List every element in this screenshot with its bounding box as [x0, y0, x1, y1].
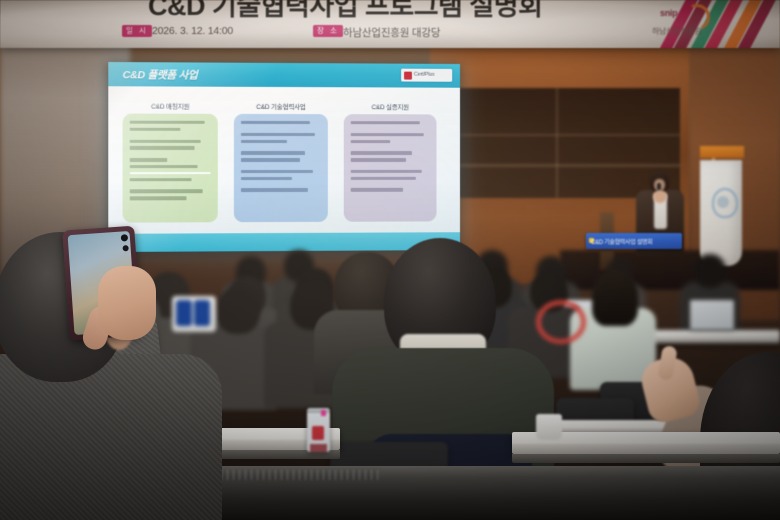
hand-holding-phone — [98, 266, 156, 340]
stage-sign-text: C&D 기술협력사업 설명회 — [591, 237, 652, 246]
desk-edge-front-right — [512, 454, 780, 463]
screen-glare — [108, 62, 460, 252]
laptop-far-right-2 — [690, 300, 734, 330]
stage-floor — [560, 250, 780, 290]
projection-screen: C&D 플랫폼 사업 Cert/Plus C&D 매칭지원 — [108, 62, 460, 252]
beverage-can-right[interactable] — [307, 408, 330, 452]
stage-sign: C&D 기술협력사업 설명회 — [586, 233, 682, 249]
red-circle-sign — [536, 300, 586, 344]
dark-acoustic-panel — [448, 88, 680, 198]
event-banner: C&D 기술협력사업 프로그램 설명회 일 시 2026. 3. 12. 14:… — [0, 0, 780, 48]
foreground-photographer — [0, 232, 232, 520]
tweed-jacket — [0, 354, 222, 520]
banner-lighting-vignette — [0, 0, 780, 48]
paper-cup[interactable] — [536, 414, 562, 440]
seminar-photo-scene: C&D 기술협력사업 프로그램 설명회 일 시 2026. 3. 12. 14:… — [0, 0, 780, 520]
